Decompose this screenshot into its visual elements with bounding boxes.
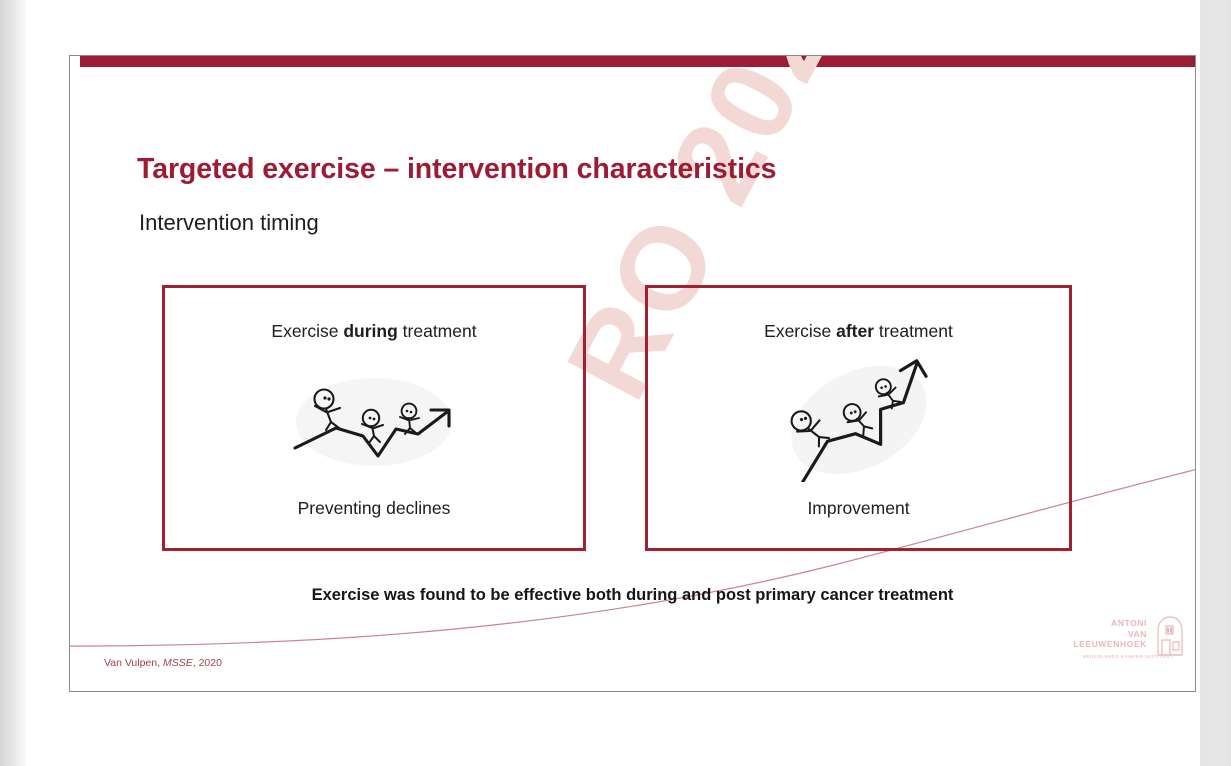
panel-during-heading-emphasis: during bbox=[343, 321, 397, 341]
antoni-van-leeuwenhoek-building-mark bbox=[1151, 614, 1187, 658]
logo-line-1: ANTONI bbox=[1063, 618, 1147, 629]
slide-accent-bar bbox=[80, 56, 1195, 67]
viewer-left-gutter bbox=[0, 0, 26, 766]
panel-during-heading-prefix: Exercise bbox=[271, 321, 343, 341]
panel-exercise-during-treatment: Exercise during treatment bbox=[162, 285, 586, 551]
organization-logo: ANTONI VAN LEEUWENHOEK NEDERLANDS KANKER… bbox=[1063, 614, 1187, 666]
slide-subtitle: Intervention timing bbox=[139, 210, 319, 236]
panel-during-caption: Preventing declines bbox=[165, 498, 583, 519]
panel-exercise-after-treatment: Exercise after treatment bbox=[645, 285, 1072, 551]
steep-rising-arrow-with-stick-figures-sketch bbox=[769, 356, 949, 482]
citation-journal: MSSE bbox=[163, 657, 193, 669]
citation-author: Van Vulpen, bbox=[104, 657, 163, 669]
logo-line-2: VAN bbox=[1063, 629, 1147, 640]
panel-after-heading-emphasis: after bbox=[836, 321, 874, 341]
citation: Van Vulpen, MSSE, 2020 bbox=[104, 657, 222, 669]
logo-wordmark: ANTONI VAN LEEUWENHOEK bbox=[1063, 618, 1147, 650]
document-page: RO 2023 Targeted exercise – intervention… bbox=[26, 0, 1200, 766]
citation-year: , 2020 bbox=[193, 657, 222, 669]
panel-after-heading: Exercise after treatment bbox=[648, 321, 1069, 342]
conclusion-statement: Exercise was found to be effective both … bbox=[70, 586, 1195, 605]
slide: RO 2023 Targeted exercise – intervention… bbox=[69, 55, 1196, 692]
panel-after-caption: Improvement bbox=[648, 498, 1069, 519]
viewer-right-gutter bbox=[1200, 0, 1231, 766]
panel-after-heading-suffix: treatment bbox=[874, 321, 953, 341]
panel-during-heading-suffix: treatment bbox=[398, 321, 477, 341]
zigzag-up-arrow-with-stick-figures-sketch bbox=[279, 366, 469, 476]
page-title: Targeted exercise – intervention charact… bbox=[137, 153, 776, 186]
panel-after-heading-prefix: Exercise bbox=[764, 321, 836, 341]
panel-during-heading: Exercise during treatment bbox=[165, 321, 583, 342]
document-viewer: RO 2023 Targeted exercise – intervention… bbox=[0, 0, 1231, 766]
logo-line-3: LEEUWENHOEK bbox=[1063, 639, 1147, 650]
